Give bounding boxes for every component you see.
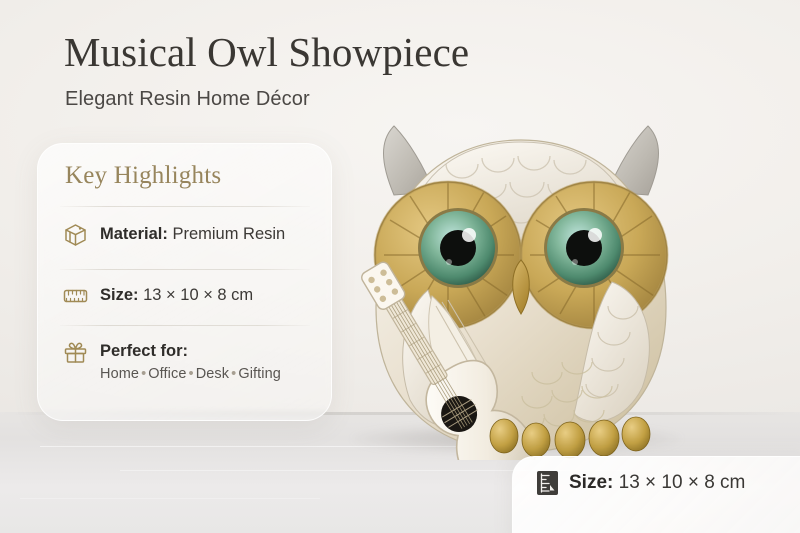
- tag-separator: •: [139, 366, 148, 382]
- page-subtitle: Elegant Resin Home Décor: [65, 88, 310, 111]
- product-image-owl-figurine: [336, 100, 706, 460]
- card-divider: [60, 325, 310, 326]
- highlight-row-size-text: Size: 13 × 10 × 8 cm: [100, 281, 253, 307]
- tag-home: Home: [100, 366, 139, 382]
- card-divider: [60, 269, 310, 270]
- box-icon: [62, 221, 89, 248]
- size-badge-label: Size:: [569, 472, 613, 493]
- ruler-icon: [62, 282, 89, 309]
- size-badge-content: Size: 13 × 10 × 8 cm: [537, 471, 745, 495]
- key-highlights-heading: Key Highlights: [65, 162, 221, 190]
- highlight-row-perfect-for-text: Perfect for: Home•Office•Desk•Gifting: [100, 337, 281, 382]
- tag-office: Office: [148, 366, 186, 382]
- highlight-row-material: Material: Premium Resin: [62, 220, 285, 248]
- page-title: Musical Owl Showpiece: [64, 30, 469, 76]
- tag-gifting: Gifting: [238, 366, 281, 382]
- highlight-row-size: Size: 13 × 10 × 8 cm: [62, 281, 253, 309]
- size-value: 13 × 10 × 8 cm: [143, 286, 253, 304]
- size-label: Size:: [100, 286, 139, 304]
- perfect-for-tags: Home•Office•Desk•Gifting: [100, 366, 281, 382]
- perfect-for-label-wrap: Perfect for:: [100, 337, 281, 363]
- key-highlights-card: Key Highlights Material: Premium: [37, 143, 332, 421]
- size-badge: Size: 13 × 10 × 8 cm: [512, 456, 800, 533]
- card-divider: [60, 206, 310, 207]
- tag-desk: Desk: [196, 366, 229, 382]
- tag-separator: •: [187, 366, 196, 382]
- material-label: Material:: [100, 225, 168, 243]
- size-badge-value: 13 × 10 × 8 cm: [619, 472, 746, 493]
- tag-separator: •: [229, 366, 238, 382]
- material-value: Premium Resin: [172, 225, 285, 243]
- ruler-icon: [537, 471, 558, 495]
- gift-icon: [62, 338, 89, 365]
- perfect-for-label: Perfect for:: [100, 342, 188, 360]
- size-badge-text: Size: 13 × 10 × 8 cm: [569, 472, 745, 494]
- product-showcase-canvas: Musical Owl Showpiece Elegant Resin Home…: [0, 0, 800, 533]
- highlight-row-perfect-for: Perfect for: Home•Office•Desk•Gifting: [62, 337, 281, 382]
- highlight-row-material-text: Material: Premium Resin: [100, 220, 285, 246]
